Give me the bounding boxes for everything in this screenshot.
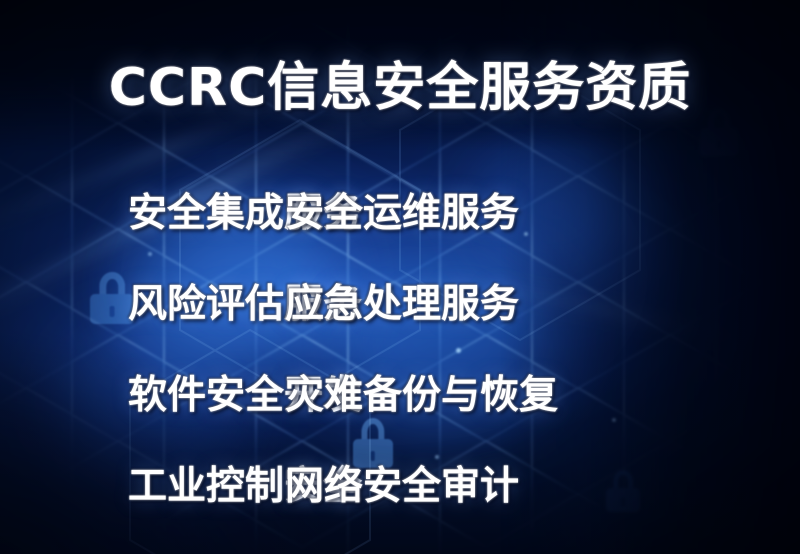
service-item-security-integration: 安全集成服务: [0, 194, 283, 233]
page-title: CCRC信息安全服务资质: [0, 62, 800, 114]
service-row: 风险评估服务 应急处理服务: [0, 259, 800, 350]
service-row: 安全集成服务 安全运维服务: [0, 168, 800, 259]
service-list: 安全集成服务 安全运维服务 风险评估服务 应急处理服务 软件安全开发 灾难备份与…: [0, 168, 800, 532]
service-item-disaster-recovery: 灾难备份与恢复: [283, 376, 558, 415]
service-item-industrial-control-security: 工业控制安全: [0, 467, 283, 506]
service-item-security-operations: 安全运维服务: [283, 194, 519, 233]
service-item-network-security-audit: 网络安全审计: [283, 467, 519, 506]
ccrc-certification-poster: CCRC信息安全服务资质 安全集成服务 安全运维服务 风险评估服务 应急处理服务…: [0, 0, 800, 554]
service-item-emergency-response: 应急处理服务: [283, 285, 519, 324]
service-row: 软件安全开发 灾难备份与恢复: [0, 350, 800, 441]
poster-content: CCRC信息安全服务资质 安全集成服务 安全运维服务 风险评估服务 应急处理服务…: [0, 0, 800, 554]
service-item-risk-assessment: 风险评估服务: [0, 285, 283, 324]
service-row: 工业控制安全 网络安全审计: [0, 441, 800, 532]
service-item-secure-software-development: 软件安全开发: [0, 376, 283, 415]
